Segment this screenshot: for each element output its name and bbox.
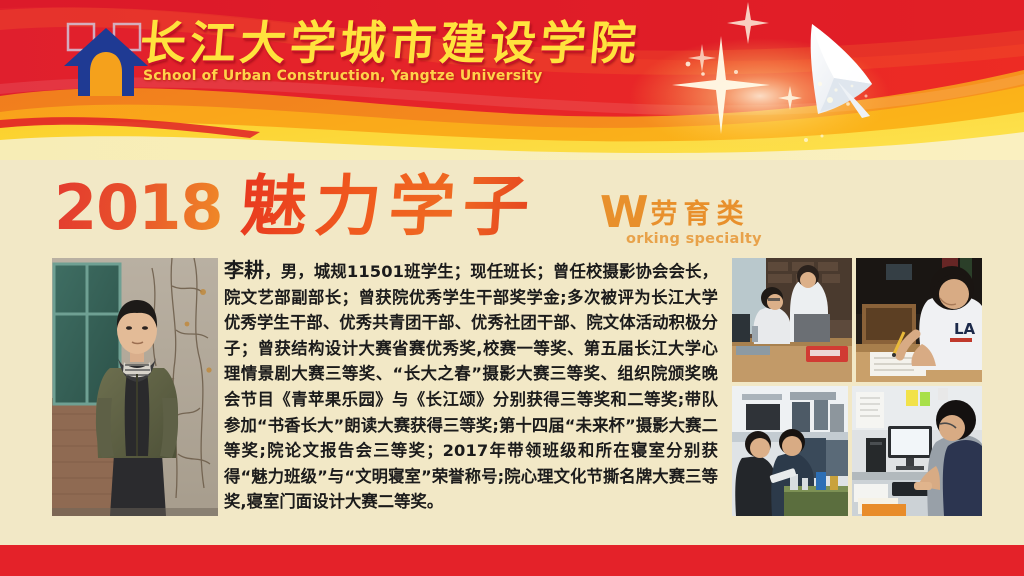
photo-workshop-model-building <box>732 258 852 382</box>
category-label-english: orking specialty <box>626 231 762 247</box>
title-text-chinese: 魅力学子 <box>238 168 539 244</box>
category-badge-line: W 劳育类 <box>600 196 762 230</box>
activity-photo-grid: LA <box>732 258 982 516</box>
brand-name-english: School of Urban Construction, Yangtze Un… <box>143 68 542 84</box>
student-bio-body: ，男，城规11501班学生；现任班长；曾任校摄影协会会长，院文艺部副部长；曾获院… <box>224 262 718 511</box>
photo-student-drafting: LA <box>856 258 982 382</box>
poster-root: 长江大学城市建设学院 School of Urban Construction,… <box>0 0 1024 576</box>
photo-student-at-computer <box>852 386 982 516</box>
poster-title: 2018魅力学子 <box>54 168 537 248</box>
footer-bar <box>0 545 1024 576</box>
student-name: 李耕 <box>224 258 264 282</box>
photo-students-in-studio <box>732 386 848 516</box>
portrait-illustration <box>52 258 218 516</box>
category-label-chinese: 劳育类 <box>651 200 750 230</box>
category-initial: W <box>600 196 649 230</box>
svg-text:LA: LA <box>954 320 976 338</box>
category-badge: W 劳育类 orking specialty <box>600 196 762 248</box>
title-year: 2018 <box>54 171 223 244</box>
student-bio-text: 李耕，男，城规11501班学生；现任班长；曾任校摄影协会会长，院文艺部副部长；曾… <box>224 258 718 518</box>
header-banner: 长江大学城市建设学院 School of Urban Construction,… <box>0 0 1024 160</box>
house-logo-icon <box>62 22 150 98</box>
brand-name-chinese: 长江大学城市建设学院 <box>138 20 642 66</box>
student-portrait-photo <box>52 258 218 516</box>
